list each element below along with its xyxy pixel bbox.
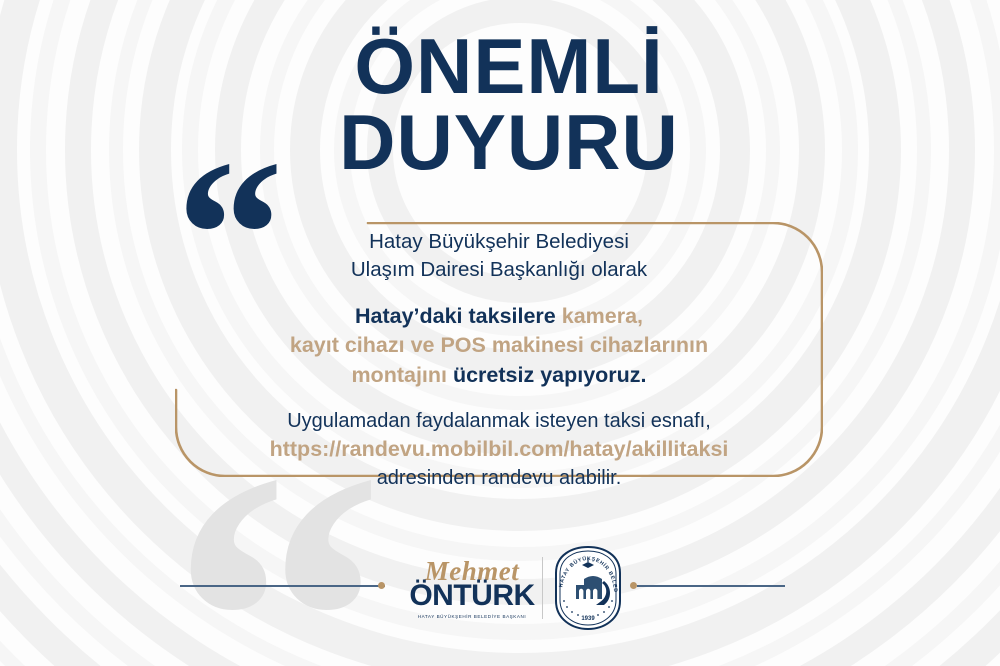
- paragraph-offer: Hatay’daki taksilere kamera, kayıt cihaz…: [175, 302, 823, 391]
- intro-line-2: Ulaşım Dairesi Başkanlığı olarak: [351, 258, 647, 281]
- offer-segment-gold-3: montajını: [351, 363, 453, 387]
- mayor-signature: Mehmet ÖNTÜRK HATAY BÜYÜKŞEHİR BELEDİYE …: [408, 558, 536, 619]
- offer-segment-gold-2: kayıt cihazı ve POS makinesi cihazlarını…: [290, 333, 708, 357]
- cta-line-1: Uygulamadan faydalanmak isteyen taksi es…: [287, 410, 711, 432]
- divider-dot-right: [630, 582, 637, 589]
- intro-line-1: Hatay Büyükşehir Belediyesi: [369, 230, 629, 253]
- paragraph-cta: Uygulamadan faydalanmak isteyen taksi es…: [175, 408, 823, 493]
- headline-line-2: DUYURU: [0, 104, 1000, 180]
- announcement-body: Hatay Büyükşehir Belediyesi Ulaşım Daire…: [175, 228, 823, 492]
- divider-line-left: [180, 585, 385, 587]
- mayor-role-label: HATAY BÜYÜKŞEHİR BELEDİYE BAŞKANI: [408, 614, 536, 619]
- signature-lockup: Mehmet ÖNTÜRK HATAY BÜYÜKŞEHİR BELEDİYE …: [408, 538, 624, 638]
- offer-segment-plain-2: ücretsiz yapıyoruz.: [453, 363, 647, 387]
- divider-dot-left: [378, 582, 385, 589]
- paragraph-intro: Hatay Büyükşehir Belediyesi Ulaşım Daire…: [175, 228, 823, 285]
- offer-segment-gold-1: kamera,: [562, 304, 643, 328]
- svg-text:1939: 1939: [581, 616, 595, 622]
- headline-line-1: ÖNEMLİ: [0, 28, 1000, 104]
- lockup-separator: [542, 557, 543, 619]
- mayor-last-name: ÖNTÜRK: [408, 581, 536, 611]
- divider-line-right: [637, 585, 785, 587]
- offer-segment-plain-1: Hatay’daki taksilere: [355, 304, 562, 328]
- cta-line-3: adresinden randevu alabilir.: [377, 467, 622, 489]
- appointment-url-link[interactable]: https://randevu.mobilbil.com/hatay/akill…: [270, 437, 729, 461]
- page-title: ÖNEMLİ DUYURU: [0, 28, 1000, 181]
- municipality-seal-icon: HATAY BÜYÜKŞEHİR BELEDİYESİ 1939: [552, 545, 624, 631]
- announcement-poster: “ “ ÖNEMLİ DUYURU Hatay Büyükşehir Beled…: [0, 0, 1000, 666]
